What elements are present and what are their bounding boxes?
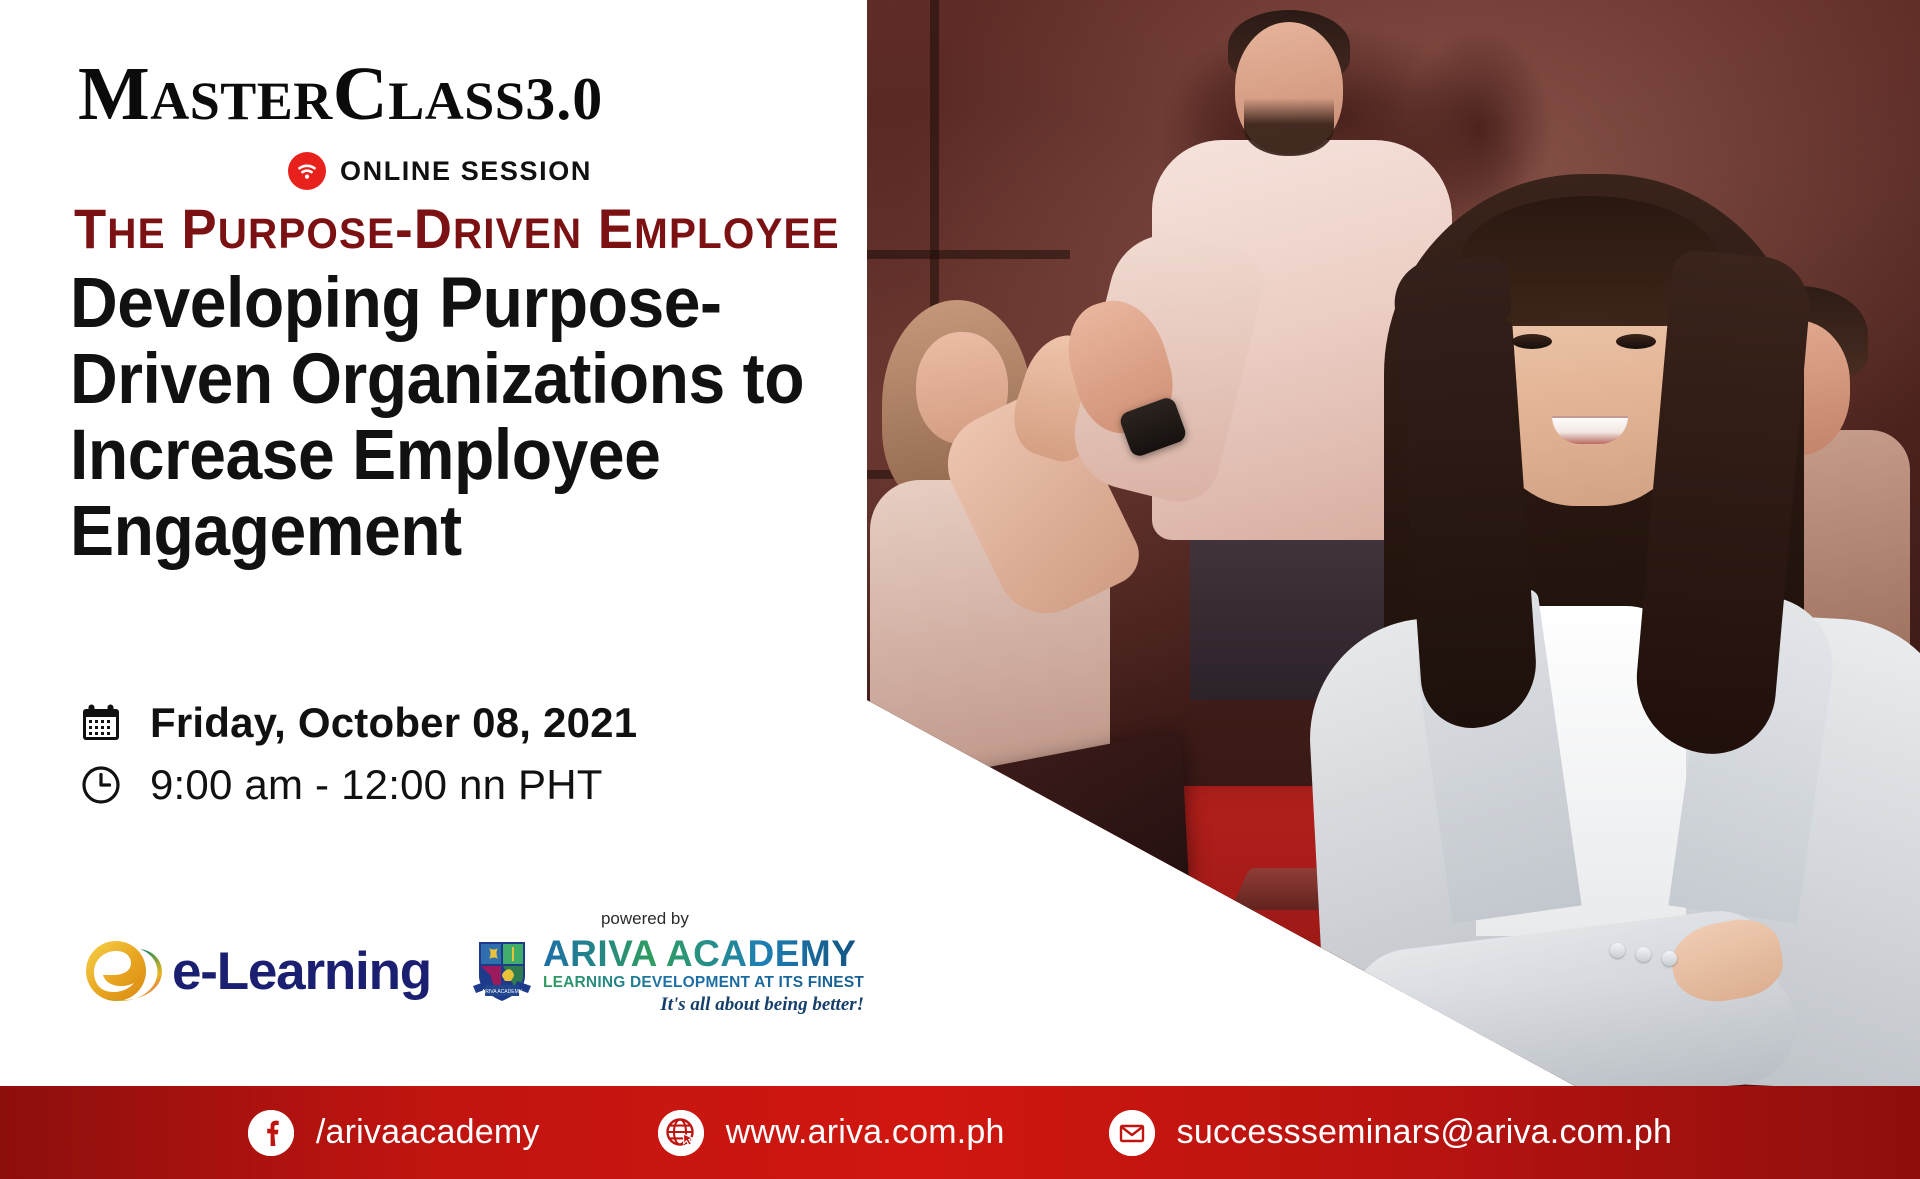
event-schedule: Friday, October 08, 2021 9:00 am - 12:00… bbox=[78, 692, 637, 816]
wifi-icon bbox=[288, 152, 326, 190]
facebook-handle: /arivaacademy bbox=[316, 1113, 540, 1152]
calendar-icon bbox=[78, 700, 124, 746]
blazer-button bbox=[1662, 951, 1677, 966]
ariva-crest-icon: ARIVA ACADEMY bbox=[471, 938, 533, 1010]
standing-man-beard bbox=[1244, 98, 1334, 156]
contact-footer-bar: /arivaacademy www.ariva.com.ph bbox=[0, 1086, 1920, 1179]
footer-email[interactable]: successseminars@ariva.com.ph bbox=[1109, 1110, 1673, 1156]
envelope-icon bbox=[1109, 1110, 1155, 1156]
email-address: successseminars@ariva.com.ph bbox=[1177, 1113, 1673, 1152]
elearning-label: e-Learning bbox=[172, 941, 431, 1002]
schedule-date-row: Friday, October 08, 2021 bbox=[78, 692, 637, 754]
logo-row: e-Learning powered by bbox=[76, 928, 864, 1014]
masterclass-title: MASTERCLASS3.0 bbox=[78, 56, 603, 132]
ariva-subtitle-label: LEARNING DEVELOPMENT AT ITS FINEST bbox=[543, 975, 864, 991]
businesswoman-eye-right bbox=[1616, 334, 1656, 349]
facebook-icon bbox=[248, 1110, 294, 1156]
left-content-panel: MASTERCLASS3.0 ONLINE SESSION THE PURPOS… bbox=[0, 0, 960, 1086]
website-url: www.ariva.com.ph bbox=[726, 1113, 1005, 1152]
laptop-base bbox=[942, 892, 1223, 918]
ariva-tagline-label: It's all about being better! bbox=[543, 995, 864, 1014]
powered-by-label: powered by bbox=[601, 909, 689, 929]
blazer-button bbox=[1636, 947, 1651, 962]
online-session-label: ONLINE SESSION bbox=[340, 156, 592, 187]
footer-website[interactable]: www.ariva.com.ph bbox=[658, 1110, 1005, 1156]
event-date: Friday, October 08, 2021 bbox=[150, 699, 637, 747]
ariva-academy-logo: powered by bbox=[471, 931, 864, 1015]
masterclass-version: 3.0 bbox=[525, 66, 603, 132]
ariva-name-label: ARIVA ACADEMY bbox=[543, 935, 864, 972]
event-headline: Developing Purpose-Driven Organizations … bbox=[70, 266, 888, 570]
blazer-button bbox=[1610, 943, 1625, 958]
clock-icon bbox=[78, 762, 124, 808]
webinar-promo-banner: MASTERCLASS3.0 ONLINE SESSION THE PURPOS… bbox=[0, 0, 1920, 1179]
crest-banner-text: ARIVA ACADEMY bbox=[482, 989, 523, 995]
foreground-businesswoman bbox=[1280, 166, 1920, 1086]
footer-facebook[interactable]: /arivaacademy bbox=[248, 1110, 540, 1156]
event-kicker: THE PURPOSE-DRIVEN EMPLOYEE bbox=[74, 196, 840, 261]
masterclass-word: MASTERCLASS bbox=[78, 52, 525, 136]
elearning-sphere-icon bbox=[76, 928, 162, 1014]
globe-icon bbox=[658, 1110, 704, 1156]
event-time: 9:00 am - 12:00 nn PHT bbox=[150, 761, 603, 809]
businesswoman-eye-left bbox=[1512, 334, 1552, 349]
schedule-time-row: 9:00 am - 12:00 nn PHT bbox=[78, 754, 637, 816]
elearning-logo: e-Learning bbox=[76, 928, 431, 1014]
online-session-badge: ONLINE SESSION bbox=[288, 152, 592, 190]
